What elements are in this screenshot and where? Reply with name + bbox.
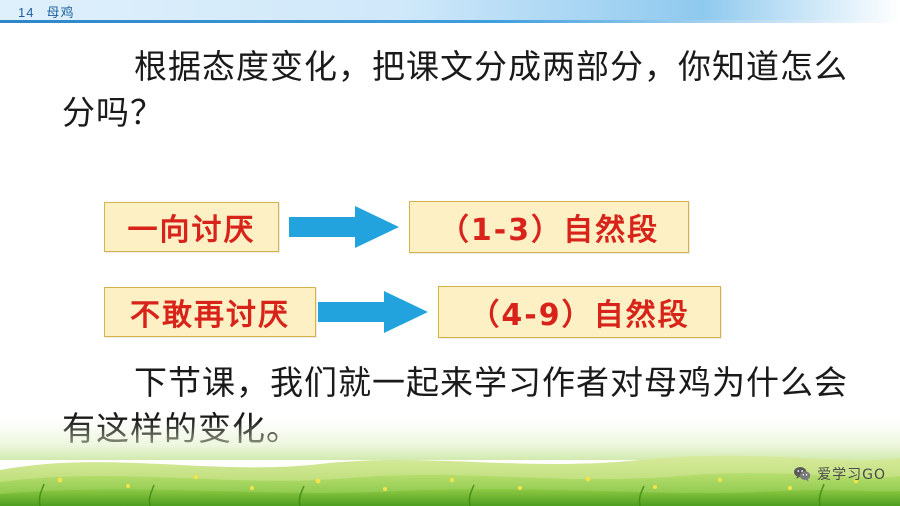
lesson-number: 14 xyxy=(18,5,34,20)
scenery-decoration xyxy=(0,420,900,506)
header-underline xyxy=(0,20,900,23)
top-paragraph: 根据态度变化，把课文分成两部分，你知道怎么分吗？ xyxy=(62,44,852,136)
diagram-row: 不敢再讨厌 （4-9）自然段 xyxy=(104,286,721,338)
header-label: 14母鸡 xyxy=(18,2,74,21)
watermark: 爱学习GO xyxy=(793,464,886,484)
attitude-box-2: 不敢再讨厌 xyxy=(104,287,316,337)
right-arrow-icon xyxy=(318,289,430,335)
diagram-row: 一向讨厌 （1-3）自然段 xyxy=(104,201,689,253)
slide-root: 14母鸡 根据态度变化，把课文分成两部分，你知道怎么分吗？ 一向讨厌 （1-3）… xyxy=(0,0,900,506)
section-box-1: （1-3）自然段 xyxy=(409,201,689,253)
watermark-text: 爱学习GO xyxy=(817,464,886,484)
header-bar xyxy=(0,0,900,22)
lesson-title: 母鸡 xyxy=(46,5,74,20)
section-box-2: （4-9）自然段 xyxy=(438,286,721,338)
wechat-icon xyxy=(793,465,811,483)
right-arrow-icon xyxy=(289,204,401,250)
attitude-box-1: 一向讨厌 xyxy=(104,202,279,252)
